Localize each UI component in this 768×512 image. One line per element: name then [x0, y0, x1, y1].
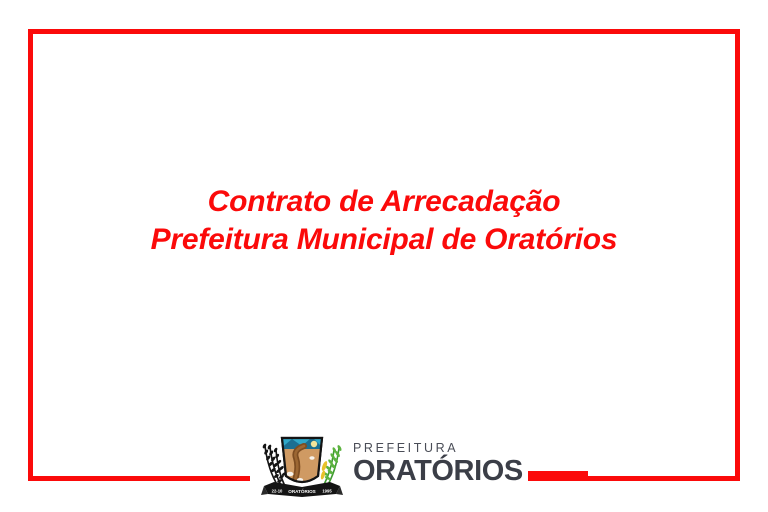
- title-line-2: Prefeitura Municipal de Oratórios: [0, 221, 768, 259]
- crest-ribbon: 22-10 ORATÓRIOS 1995: [261, 482, 343, 497]
- logo-wordmark-oratorios: ORATÓRIOS: [353, 456, 528, 487]
- svg-text:1995: 1995: [322, 489, 332, 494]
- logo-wordmark-prefeitura: PREFEITURA: [353, 441, 528, 455]
- svg-text:22-10: 22-10: [272, 489, 283, 494]
- page-title: Contrato de Arrecadação Prefeitura Munic…: [0, 183, 768, 259]
- svg-text:ORATÓRIOS: ORATÓRIOS: [288, 487, 315, 494]
- logo-wordmark: PREFEITURA ORATÓRIOS: [353, 441, 528, 491]
- prefeitura-logo: 22-10 ORATÓRIOS 1995 PREFEITURA ORATÓRIO…: [250, 424, 528, 504]
- slide-canvas: Contrato de Arrecadação Prefeitura Munic…: [0, 0, 768, 512]
- accent-dash-right: [522, 471, 588, 478]
- coat-of-arms-icon: 22-10 ORATÓRIOS 1995: [252, 424, 352, 502]
- title-line-1: Contrato de Arrecadação: [0, 183, 768, 221]
